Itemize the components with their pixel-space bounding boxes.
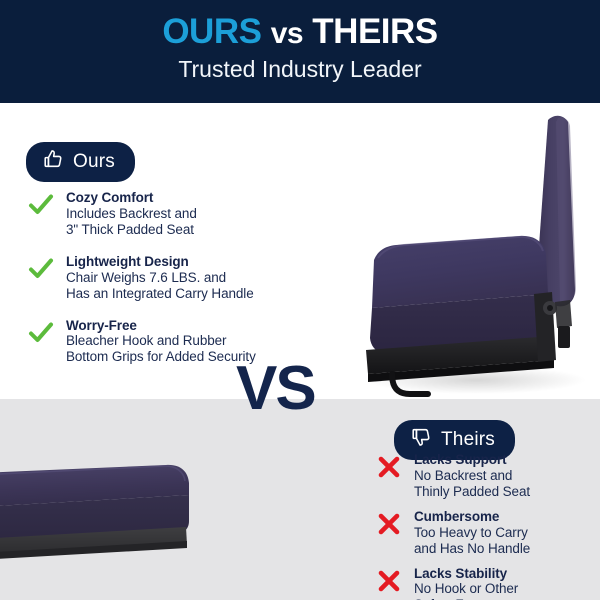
green-check-icon — [28, 320, 54, 346]
feature-title: Lightweight Design — [66, 254, 254, 270]
feature-title: Lacks Stability — [414, 566, 518, 582]
theirs-feature-text: Lacks Support No Backrest and Thinly Pad… — [414, 452, 530, 500]
feature-desc-line2: Has an Integrated Carry Handle — [66, 286, 254, 302]
header-banner: OURS vs THEIRS Trusted Industry Leader — [0, 0, 600, 103]
thumbs-up-icon — [42, 148, 64, 175]
ours-product-image — [352, 112, 600, 400]
feature-desc-line1: Too Heavy to Carry — [414, 525, 530, 541]
ours-badge-label: Ours — [73, 152, 115, 171]
feature-desc-line2: and Has No Handle — [414, 541, 530, 557]
feature-desc-line2: Thinly Padded Seat — [414, 484, 530, 500]
feature-desc-line1: Chair Weighs 7.6 LBS. and — [66, 270, 254, 286]
ours-feature-list: Cozy Comfort Includes Backrest and 3" Th… — [28, 190, 308, 365]
theirs-badge-label: Theirs — [441, 430, 495, 449]
title-vs: vs — [271, 17, 303, 50]
theirs-product-image — [0, 455, 218, 565]
green-check-icon — [28, 192, 54, 218]
ours-feature-text: Lightweight Design Chair Weighs 7.6 LBS.… — [66, 254, 254, 302]
theirs-feature-list: Lacks Support No Backrest and Thinly Pad… — [376, 452, 591, 600]
ours-badge: Ours — [26, 142, 135, 182]
feature-title: Worry-Free — [66, 318, 256, 334]
red-x-icon — [376, 511, 402, 537]
ours-feature-item: Lightweight Design Chair Weighs 7.6 LBS.… — [28, 254, 308, 302]
header-subtitle: Trusted Industry Leader — [0, 51, 600, 83]
vs-divider-label: VS — [236, 358, 315, 420]
feature-desc-line2: 3" Thick Padded Seat — [66, 222, 197, 238]
title-theirs: THEIRS — [312, 12, 437, 51]
feature-desc-line1: Bleacher Hook and Rubber — [66, 333, 256, 349]
thumbs-down-icon — [410, 426, 432, 453]
green-check-icon — [28, 256, 54, 282]
feature-desc-line2: Bottom Grips for Added Security — [66, 349, 256, 365]
red-x-icon — [376, 568, 402, 594]
comparison-infographic: OURS vs THEIRS Trusted Industry Leader — [0, 0, 600, 600]
feature-desc-line1: No Hook or Other — [414, 581, 518, 597]
feature-title: Lacks Support — [414, 452, 530, 468]
ours-feature-item: Cozy Comfort Includes Backrest and 3" Th… — [28, 190, 308, 238]
theirs-feature-item: Cumbersome Too Heavy to Carry and Has No… — [376, 509, 591, 557]
theirs-feature-item: Lacks Stability No Hook or Other Safety … — [376, 566, 591, 600]
feature-desc-line1: No Backrest and — [414, 468, 530, 484]
title-ours: OURS — [162, 12, 261, 51]
theirs-feature-text: Cumbersome Too Heavy to Carry and Has No… — [414, 509, 530, 557]
ours-feature-text: Worry-Free Bleacher Hook and Rubber Bott… — [66, 318, 256, 366]
feature-title: Cumbersome — [414, 509, 530, 525]
theirs-feature-text: Lacks Stability No Hook or Other Safety … — [414, 566, 518, 600]
feature-desc-line1: Includes Backrest and — [66, 206, 197, 222]
theirs-feature-item: Lacks Support No Backrest and Thinly Pad… — [376, 452, 591, 500]
page-title: OURS vs THEIRS — [0, 0, 600, 51]
feature-title: Cozy Comfort — [66, 190, 197, 206]
ours-feature-text: Cozy Comfort Includes Backrest and 3" Th… — [66, 190, 197, 238]
red-x-icon — [376, 454, 402, 480]
